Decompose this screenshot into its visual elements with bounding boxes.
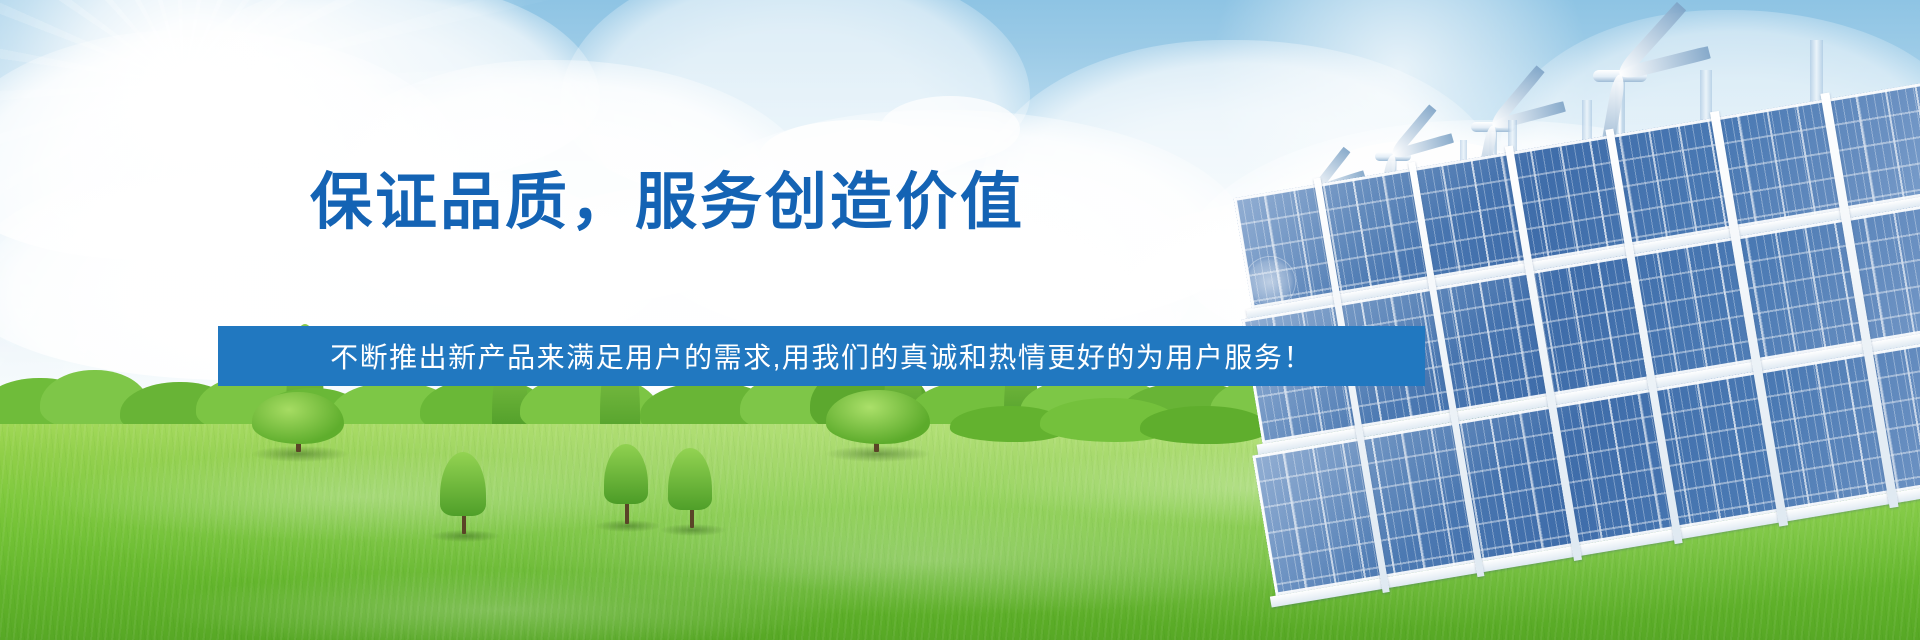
- page-title: 保证品质，服务创造价值: [310, 168, 1025, 237]
- lens-flare-icon: [1244, 256, 1296, 308]
- subtitle-text: 不断推出新产品来满足用户的需求,用我们的真诚和热情更好的为用户服务！: [330, 336, 1313, 376]
- promo-banner: 保证品质，服务创造价值 不断推出新产品来满足用户的需求,用我们的真诚和热情更好的…: [0, 0, 1920, 640]
- subtitle-bar: 不断推出新产品来满足用户的需求,用我们的真诚和热情更好的为用户服务！: [218, 326, 1425, 386]
- solar-panel-array: [1170, 0, 1920, 640]
